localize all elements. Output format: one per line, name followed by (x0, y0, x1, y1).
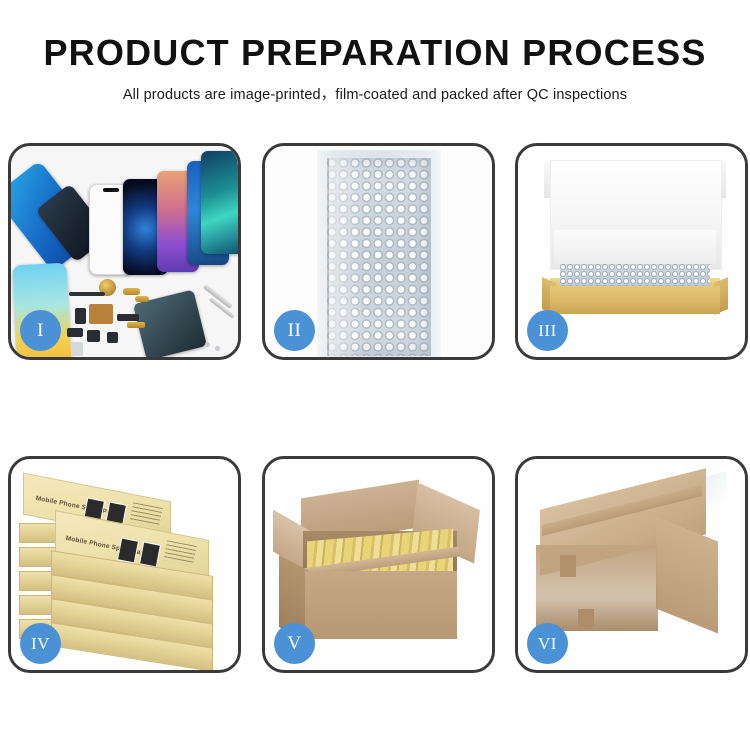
button-part-icon (87, 330, 100, 342)
process-steps-grid: I II III (8, 143, 742, 673)
sim-tray-part-icon (71, 342, 83, 356)
step-badge-3: III (527, 310, 568, 351)
carton-tab-icon (578, 609, 594, 627)
page-header: PRODUCT PREPARATION PROCESS All products… (0, 0, 750, 104)
gold-connector-part-icon (123, 288, 140, 295)
step-badge-2: II (274, 310, 315, 351)
step-badge-4: IV (20, 623, 61, 664)
page-subtitle: All products are image-printed，film-coat… (0, 83, 750, 104)
carton-front-panel-icon (305, 571, 457, 639)
gold-flex-part-icon (127, 322, 145, 328)
process-step-panel-5: V (262, 456, 495, 673)
step-4-image: Mobile Phone Spare Parts Mobile Phone Sp… (11, 459, 238, 670)
foam-liner-icon (554, 230, 716, 264)
process-step-panel-2: II (262, 143, 495, 360)
phone-notch-icon (103, 188, 119, 192)
screw-part-icon (205, 342, 210, 347)
sealed-carton-front-icon (536, 545, 658, 631)
bubble-wrap-highlight-icon (329, 158, 363, 356)
process-step-panel-4: Mobile Phone Spare Parts Mobile Phone Sp… (8, 456, 241, 673)
antenna-part-icon (117, 314, 139, 321)
step-3-image: III (518, 146, 745, 357)
flex-cable-part-icon (69, 292, 105, 296)
step-1-image: I (11, 146, 238, 357)
process-step-panel-3: III (515, 143, 748, 360)
phone-display-teal-icon (201, 151, 238, 254)
step-5-image: V (265, 459, 492, 670)
logic-chip-part-icon (89, 304, 113, 324)
step-2-image: II (265, 146, 492, 357)
vibrator-part-icon (67, 328, 83, 337)
camera-module-part-icon (75, 308, 86, 324)
step-6-image: VI (518, 459, 745, 670)
sensor-part-icon (107, 332, 118, 343)
process-step-panel-6: VI (515, 456, 748, 673)
carton-tab-icon (560, 555, 576, 577)
gold-clip-part-icon (135, 296, 149, 302)
process-step-panel-1: I (8, 143, 241, 360)
step-badge-6: VI (527, 623, 568, 664)
page-title: PRODUCT PREPARATION PROCESS (0, 34, 750, 72)
step-badge-1: I (20, 310, 61, 351)
step-badge-5: V (274, 623, 315, 664)
kraft-tray-front-icon (550, 286, 720, 314)
screw-part-icon (215, 346, 220, 351)
